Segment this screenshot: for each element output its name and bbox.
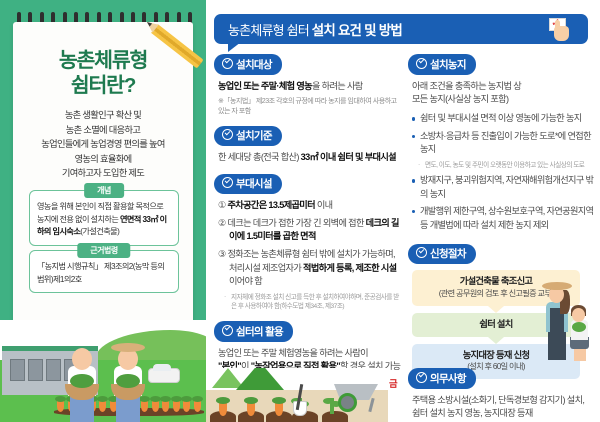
intro-line-2: 농촌 소멸에 대응하고 [17,123,189,138]
garden-illustration [206,368,388,422]
section-farmland-chip: 설치농지 [408,54,476,75]
farmland-bullet: 개발행위 제한구역, 상수원보호구역, 자연공원지역 등 개별법에 따라 설치 … [412,205,594,232]
duties-line-1: 주택용 소방시설(소화기, 단독경보형 감지기) 설치, [412,394,598,407]
content-column-left: 설치대상 농업인 또는 주말·체험 영농을 하려는 사람 ※「농지법」 제23조… [214,54,404,412]
carrot-icon [275,403,283,416]
section-procedure-label: 신청절차 [430,248,466,260]
farmer-head [72,348,92,370]
bubble-tail [228,42,241,52]
annex-item: ① 주차공간은 13.5제곱미터 이내 [218,199,404,213]
header-title-strong: 설치 요건 및 방법 [312,23,402,38]
infographic-page: 농촌체류형 쉼터란? 농촌 생활인구 확산 및 농촌 소멸에 대응하고 농업인들… [0,0,600,422]
annex-item-num: ② [218,218,226,228]
section-farmland-label: 설치농지 [430,59,466,71]
mountain-icon [236,368,284,390]
mother-child-illustration [536,282,596,364]
section-target-body: 농업인 또는 주말·체험 영농을 하려는 사람 ※「농지법」 제23조 각호의 … [214,80,404,117]
child-vegetables [572,322,586,332]
check-circle-icon [416,372,427,383]
carrot-icon [183,401,190,412]
carrot-icon [162,401,169,412]
farmland-intro-1: 아래 조건을 충족하는 농지법 상 [412,80,594,93]
section-duties-label: 의무사항 [430,373,466,385]
carrot-icon [247,403,255,416]
annex-item-num: ① [218,200,226,210]
mother-hat-icon [542,282,572,290]
section-standard-label: 설치기준 [236,130,272,142]
annex-footnote: 지자체에 정화조 설치 신고를 득한 후 설치하여야하며, 준공검사를 받은 후… [218,293,404,313]
check-circle-icon [222,325,233,336]
check-circle-icon [222,58,233,69]
target-note: ※「농지법」 제23조 각호의 규정에 따라 농지를 임대하여 사용하고 있는 … [218,96,404,117]
wheelbarrow-leg [368,398,374,412]
standard-pre: 한 세대당 총(전국 합산) [218,152,301,162]
hand-finger [555,20,560,30]
annex-item-bold: 주차공간은 13.5제곱미터 [228,200,315,210]
carrot-icon [219,403,227,416]
farmer-woman [58,348,106,422]
target-main-line: 농업인 또는 주말·체험 영농을 하려는 사람 [218,80,404,93]
annex-item-post: 이내 [315,200,333,210]
section-duties-chip: 의무사항 [408,368,476,389]
standard-bold: 33㎡ 이내 쉼터 및 부대시설 [301,152,396,162]
section-target: 설치대상 농업인 또는 주말·체험 영농을 하려는 사람 ※「농지법」 제23조… [214,54,404,117]
intro-description: 농촌 생활인구 확산 및 농촌 소멸에 대응하고 농업인들에게 농업경영 편의를… [17,108,189,181]
farmland-bullet: 방재지구, 붕괴위험지역, 자연재해위험개선지구 밖의 농지 [412,174,594,201]
intro-line-4: 영농의 효율화에 [17,152,189,167]
house-window [28,359,43,381]
annex-item: ② 데크는 데크가 접한 가장 긴 외벽에 접한 데크의 길이에 1.5미터를 … [218,217,404,244]
child-head [572,308,585,322]
left-panel: 농촌체류형 쉼터란? 농촌 생활인구 확산 및 농촌 소멸에 대응하고 농업인들… [0,0,206,422]
section-header-bubble: 농촌체류형 쉼터 설치 요건 및 방법 ✓ [214,14,588,44]
section-standard: 설치기준 한 세대당 총(전국 합산) 33㎡ 이내 쉼터 및 부대시설 [214,126,404,165]
section-annex-label: 부대시설 [236,178,272,190]
vegetables [70,374,94,388]
law-box-caption: 근거법령 [77,243,130,258]
check-circle-icon [416,58,427,69]
farmland-bullet-subnote: 면도, 이도, 농도 및 주민이 오랫동안 이용하고 있는 사실상의 도로 [412,161,594,171]
check-circle-icon [222,177,233,188]
carrot-icon [152,401,159,412]
hand-check-icon: ✓ [548,18,574,42]
concept-box-caption: 개념 [84,183,124,198]
child-legs [574,348,586,361]
section-standard-body: 한 세대당 총(전국 합산) 33㎡ 이내 쉼터 및 부대시설 [214,151,404,164]
section-header-title: 농촌체류형 쉼터 설치 요건 및 방법 [228,19,402,39]
section-duties: 의무사항 주택용 소방시설(소화기, 단독경보형 감지기) 설치, 쉼터 설치 … [408,368,598,420]
concept-text-post: (가설건축물) [80,227,119,236]
car-icon [148,368,180,383]
flow-arrow-icon [488,337,504,344]
check-circle-icon [416,247,427,258]
concept-box: 개념 영농을 위해 본인이 직접 활용할 목적으로 농지에 전용 없이 설치하는… [29,190,179,246]
target-bold: 농업인 또는 주말·체험 영농 [218,81,312,91]
annex-item-pre: 데크는 데크가 접한 가장 긴 외벽에 접한 [228,218,366,228]
section-target-label: 설치대상 [236,59,272,71]
standard-line: 한 세대당 총(전국 합산) 33㎡ 이내 쉼터 및 부대시설 [218,151,404,164]
seedling-icon [330,398,334,414]
duties-line-2: 쉼터 설치 농지 영농, 농지대장 등재 [412,407,598,420]
law-box: 근거법령 「농지법 시행규칙」 제3조의2(농막 등의 범위)제1의2호 [29,250,179,293]
annex-item-num: ③ [218,249,226,259]
section-farmland-body: 아래 조건을 충족하는 농지법 상 모든 농지(사실상 농지 포함) 쉼터 및 … [408,80,594,232]
header-title-normal: 농촌체류형 쉼터 [228,23,312,38]
section-target-chip: 설치대상 [214,54,282,75]
section-usage-label: 쉼터의 활용 [236,326,283,338]
section-usage-chip: 쉼터의 활용 [214,321,293,342]
check-circle-icon [222,129,233,140]
carrot-icon [173,401,180,412]
farmland-bullet: 쉼터 및 부대시설 면적 이상 영농에 가능한 농지 [412,112,594,125]
concept-box-text: 영농을 위해 본인이 직접 활용할 목적으로 농지에 전용 없이 설치하는 연면… [30,191,178,245]
mother-legs [548,331,566,360]
carrot-icon [194,401,201,412]
soil-mound [322,411,348,422]
section-annex-chip: 부대시설 [214,174,282,195]
house-window [10,359,25,381]
straw-hat-icon [111,343,145,352]
annex-item-post: 이어야 함 [229,276,262,286]
right-panel: 농촌체류형 쉼터 설치 요건 및 방법 ✓ 설치대상 농업인 또는 주말·체험 … [206,0,600,422]
section-farmland: 설치농지 아래 조건을 충족하는 농지법 상 모든 농지(사실상 농지 포함) … [408,54,594,232]
farmer-man [104,346,152,422]
farmers-illustration [0,320,206,422]
usage-line-1: 농업인 또는 주말 체험영농을 하려는 사람이 [218,347,404,360]
intro-line-1: 농촌 생활인구 확산 및 [17,108,189,123]
section-duties-body: 주택용 소방시설(소화기, 단독경보형 감지기) 설치, 쉼터 설치 농지 영농… [408,394,598,421]
farmland-intro-2: 모든 농지(사실상 농지 포함) [412,93,594,106]
annex-item-bold: 적법하게 등록, 제조한 시설 [303,263,396,273]
flow-arrow-icon [488,306,504,313]
section-standard-chip: 설치기준 [214,126,282,147]
section-annex-body: ① 주차공간은 13.5제곱미터 이내 ② 데크는 데크가 접한 가장 긴 외벽… [214,199,404,312]
section-annex: 부대시설 ① 주차공간은 13.5제곱미터 이내 ② 데크는 데크가 접한 가장… [214,174,404,313]
section-procedure-chip: 신청절차 [408,244,476,265]
farmland-bullet: 소방차·응급차 등 진출입이 가능한 도로*에 연접한 농지 [412,130,594,157]
annex-item: ③ 정화조는 농촌체류형 쉼터 밖에 설치가 가능하며, 처리시설 제조업자가 … [218,248,404,289]
intro-line-3: 농업인들에게 농업경영 편의를 높여 [17,137,189,152]
target-rest: 을 하려는 사람 [312,81,363,91]
vegetables [116,374,140,388]
intro-line-5: 기여하고자 도입한 제도 [17,166,189,181]
wheelbarrow-wheel [338,393,357,412]
